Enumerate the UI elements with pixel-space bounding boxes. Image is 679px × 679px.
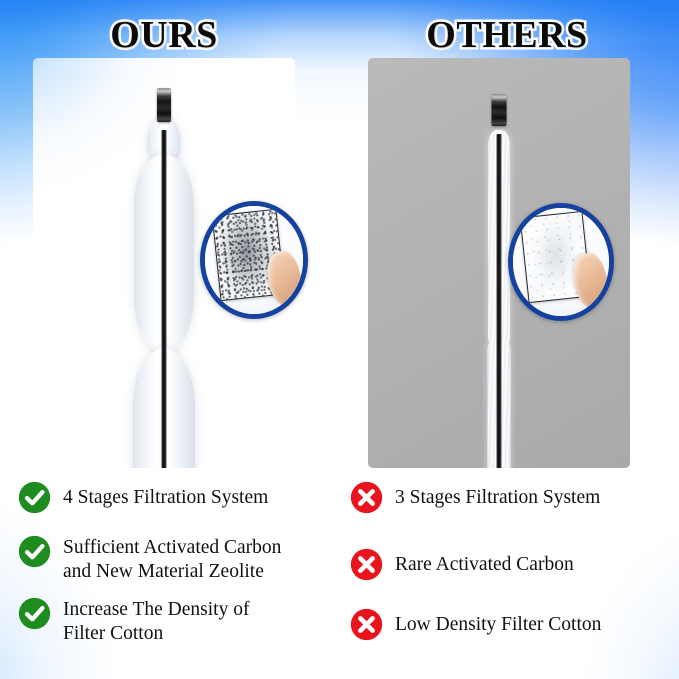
x-circle-icon xyxy=(350,548,383,581)
feature-row: Low Density Filter Cotton xyxy=(350,607,670,641)
inset-scene-ours xyxy=(205,206,303,314)
magnifier-inset-others xyxy=(508,203,614,321)
feature-label: Rare Activated Carbon xyxy=(395,551,574,577)
feature-list-ours: 4 Stages Filtration System Sufficient Ac… xyxy=(18,480,338,660)
feature-label: Increase The Density ofFilter Cotton xyxy=(63,596,249,646)
heading-ours: OURS xyxy=(33,12,295,58)
feature-row: Rare Activated Carbon xyxy=(350,547,670,581)
feature-row: 4 Stages Filtration System xyxy=(18,480,338,514)
filter-top-clip xyxy=(157,88,171,122)
check-circle-icon xyxy=(18,597,51,630)
x-circle-icon xyxy=(350,481,383,514)
feature-list-others: 3 Stages Filtration System Rare Activate… xyxy=(350,480,670,655)
feature-row: Increase The Density ofFilter Cotton xyxy=(18,596,338,646)
hand-finger-icon xyxy=(569,251,613,313)
filter-center-rod xyxy=(162,130,167,468)
inset-scene-others xyxy=(513,208,609,316)
feature-label: Sufficient Activated Carbonand New Mater… xyxy=(63,534,281,584)
heading-others: OTHERS xyxy=(368,12,646,58)
feature-row: 3 Stages Filtration System xyxy=(350,480,670,514)
magnifier-inset-ours xyxy=(200,201,308,319)
check-circle-icon xyxy=(18,481,51,514)
feature-row: Sufficient Activated Carbonand New Mater… xyxy=(18,534,338,584)
filter-top-clip xyxy=(492,94,507,126)
feature-label: 3 Stages Filtration System xyxy=(395,484,600,510)
comparison-infographic: OURS OTHERS xyxy=(0,0,679,679)
feature-label: 4 Stages Filtration System xyxy=(63,484,268,510)
feature-label: Low Density Filter Cotton xyxy=(395,611,601,637)
check-circle-icon xyxy=(18,535,51,568)
filter-center-rod xyxy=(497,134,502,468)
x-circle-icon xyxy=(350,608,383,641)
